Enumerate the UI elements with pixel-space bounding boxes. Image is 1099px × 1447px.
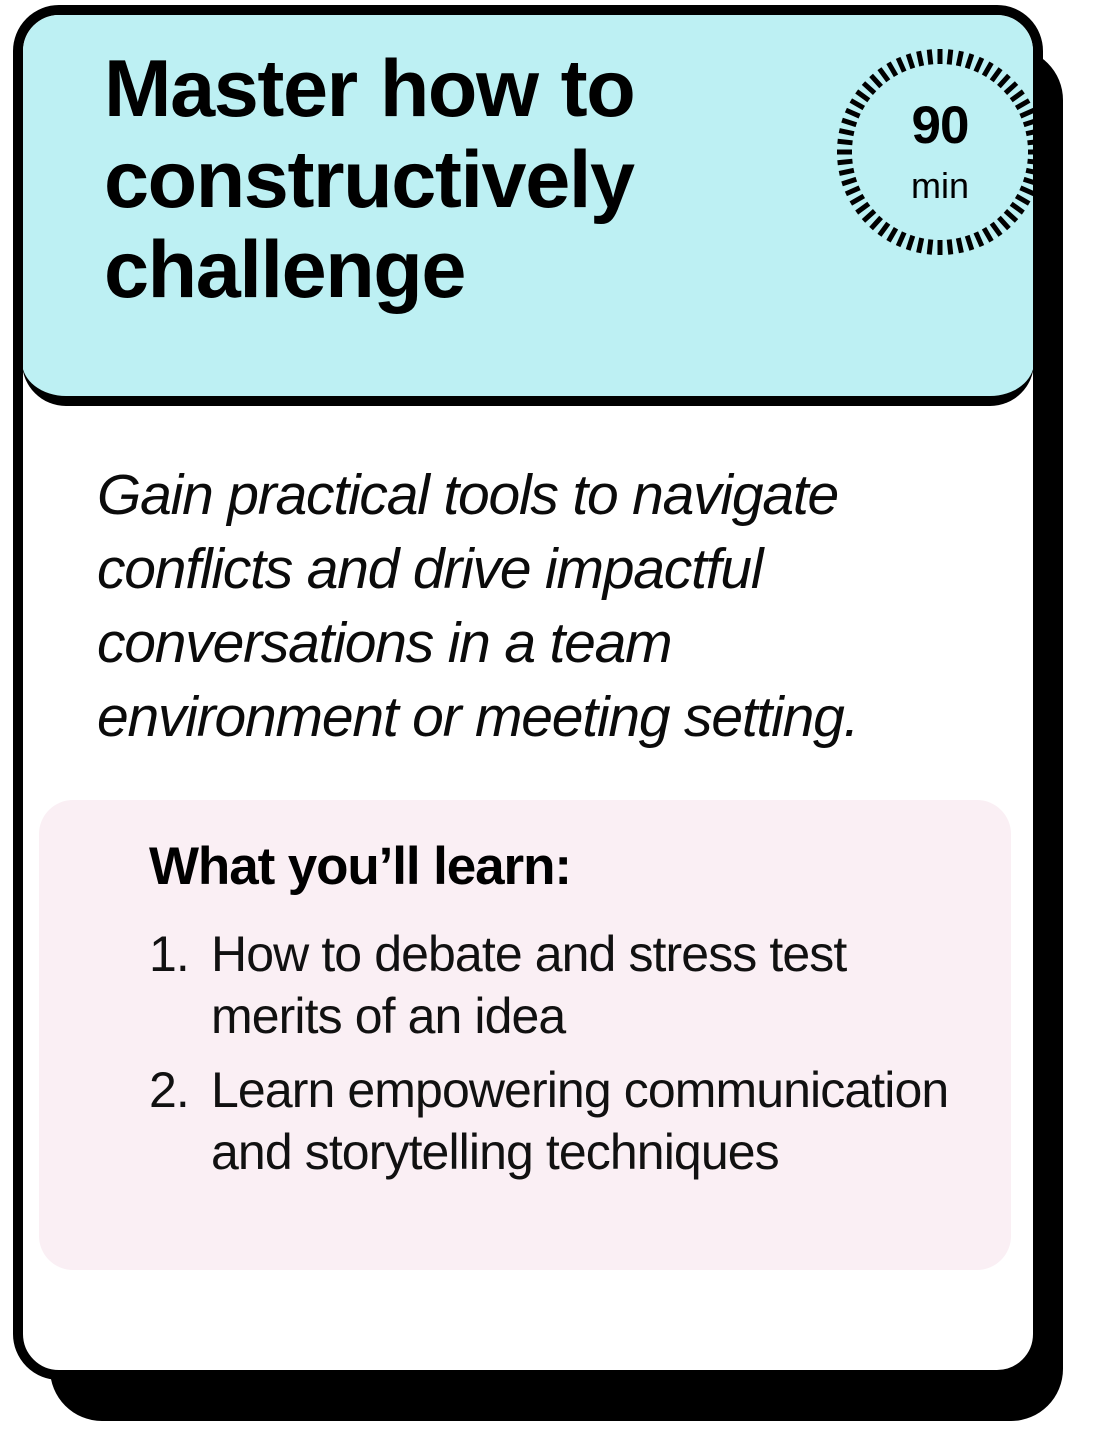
page-title: Master how to constructively challenge: [104, 44, 804, 316]
list-item: 1. How to debate and stress test merits …: [149, 923, 981, 1047]
card-description: Gain practical tools to navigate conflic…: [23, 406, 1033, 754]
card-header: Master how to constructively challenge 9…: [22, 14, 1034, 406]
what-youll-learn-heading: What you’ll learn:: [149, 836, 981, 897]
duration-badge-value: 90: [912, 96, 969, 155]
list-item-label: Learn empowering communication and story…: [211, 1059, 981, 1183]
learn-outcomes-list: 1. How to debate and stress test merits …: [149, 923, 981, 1183]
card-stage: Master how to constructively challenge 9…: [0, 0, 1099, 1447]
list-item: 2. Learn empowering communication and st…: [149, 1059, 981, 1183]
list-item-label: How to debate and stress test merits of …: [211, 923, 981, 1047]
duration-badge-dial: 90 min: [834, 46, 1043, 258]
duration-badge-unit: min: [911, 165, 969, 206]
list-item-number: 1.: [149, 923, 211, 985]
duration-badge: 90 min: [834, 46, 1043, 258]
course-card: Master how to constructively challenge 9…: [13, 5, 1043, 1380]
list-item-number: 2.: [149, 1059, 211, 1121]
what-youll-learn-panel: What you’ll learn: 1. How to debate and …: [39, 800, 1011, 1270]
